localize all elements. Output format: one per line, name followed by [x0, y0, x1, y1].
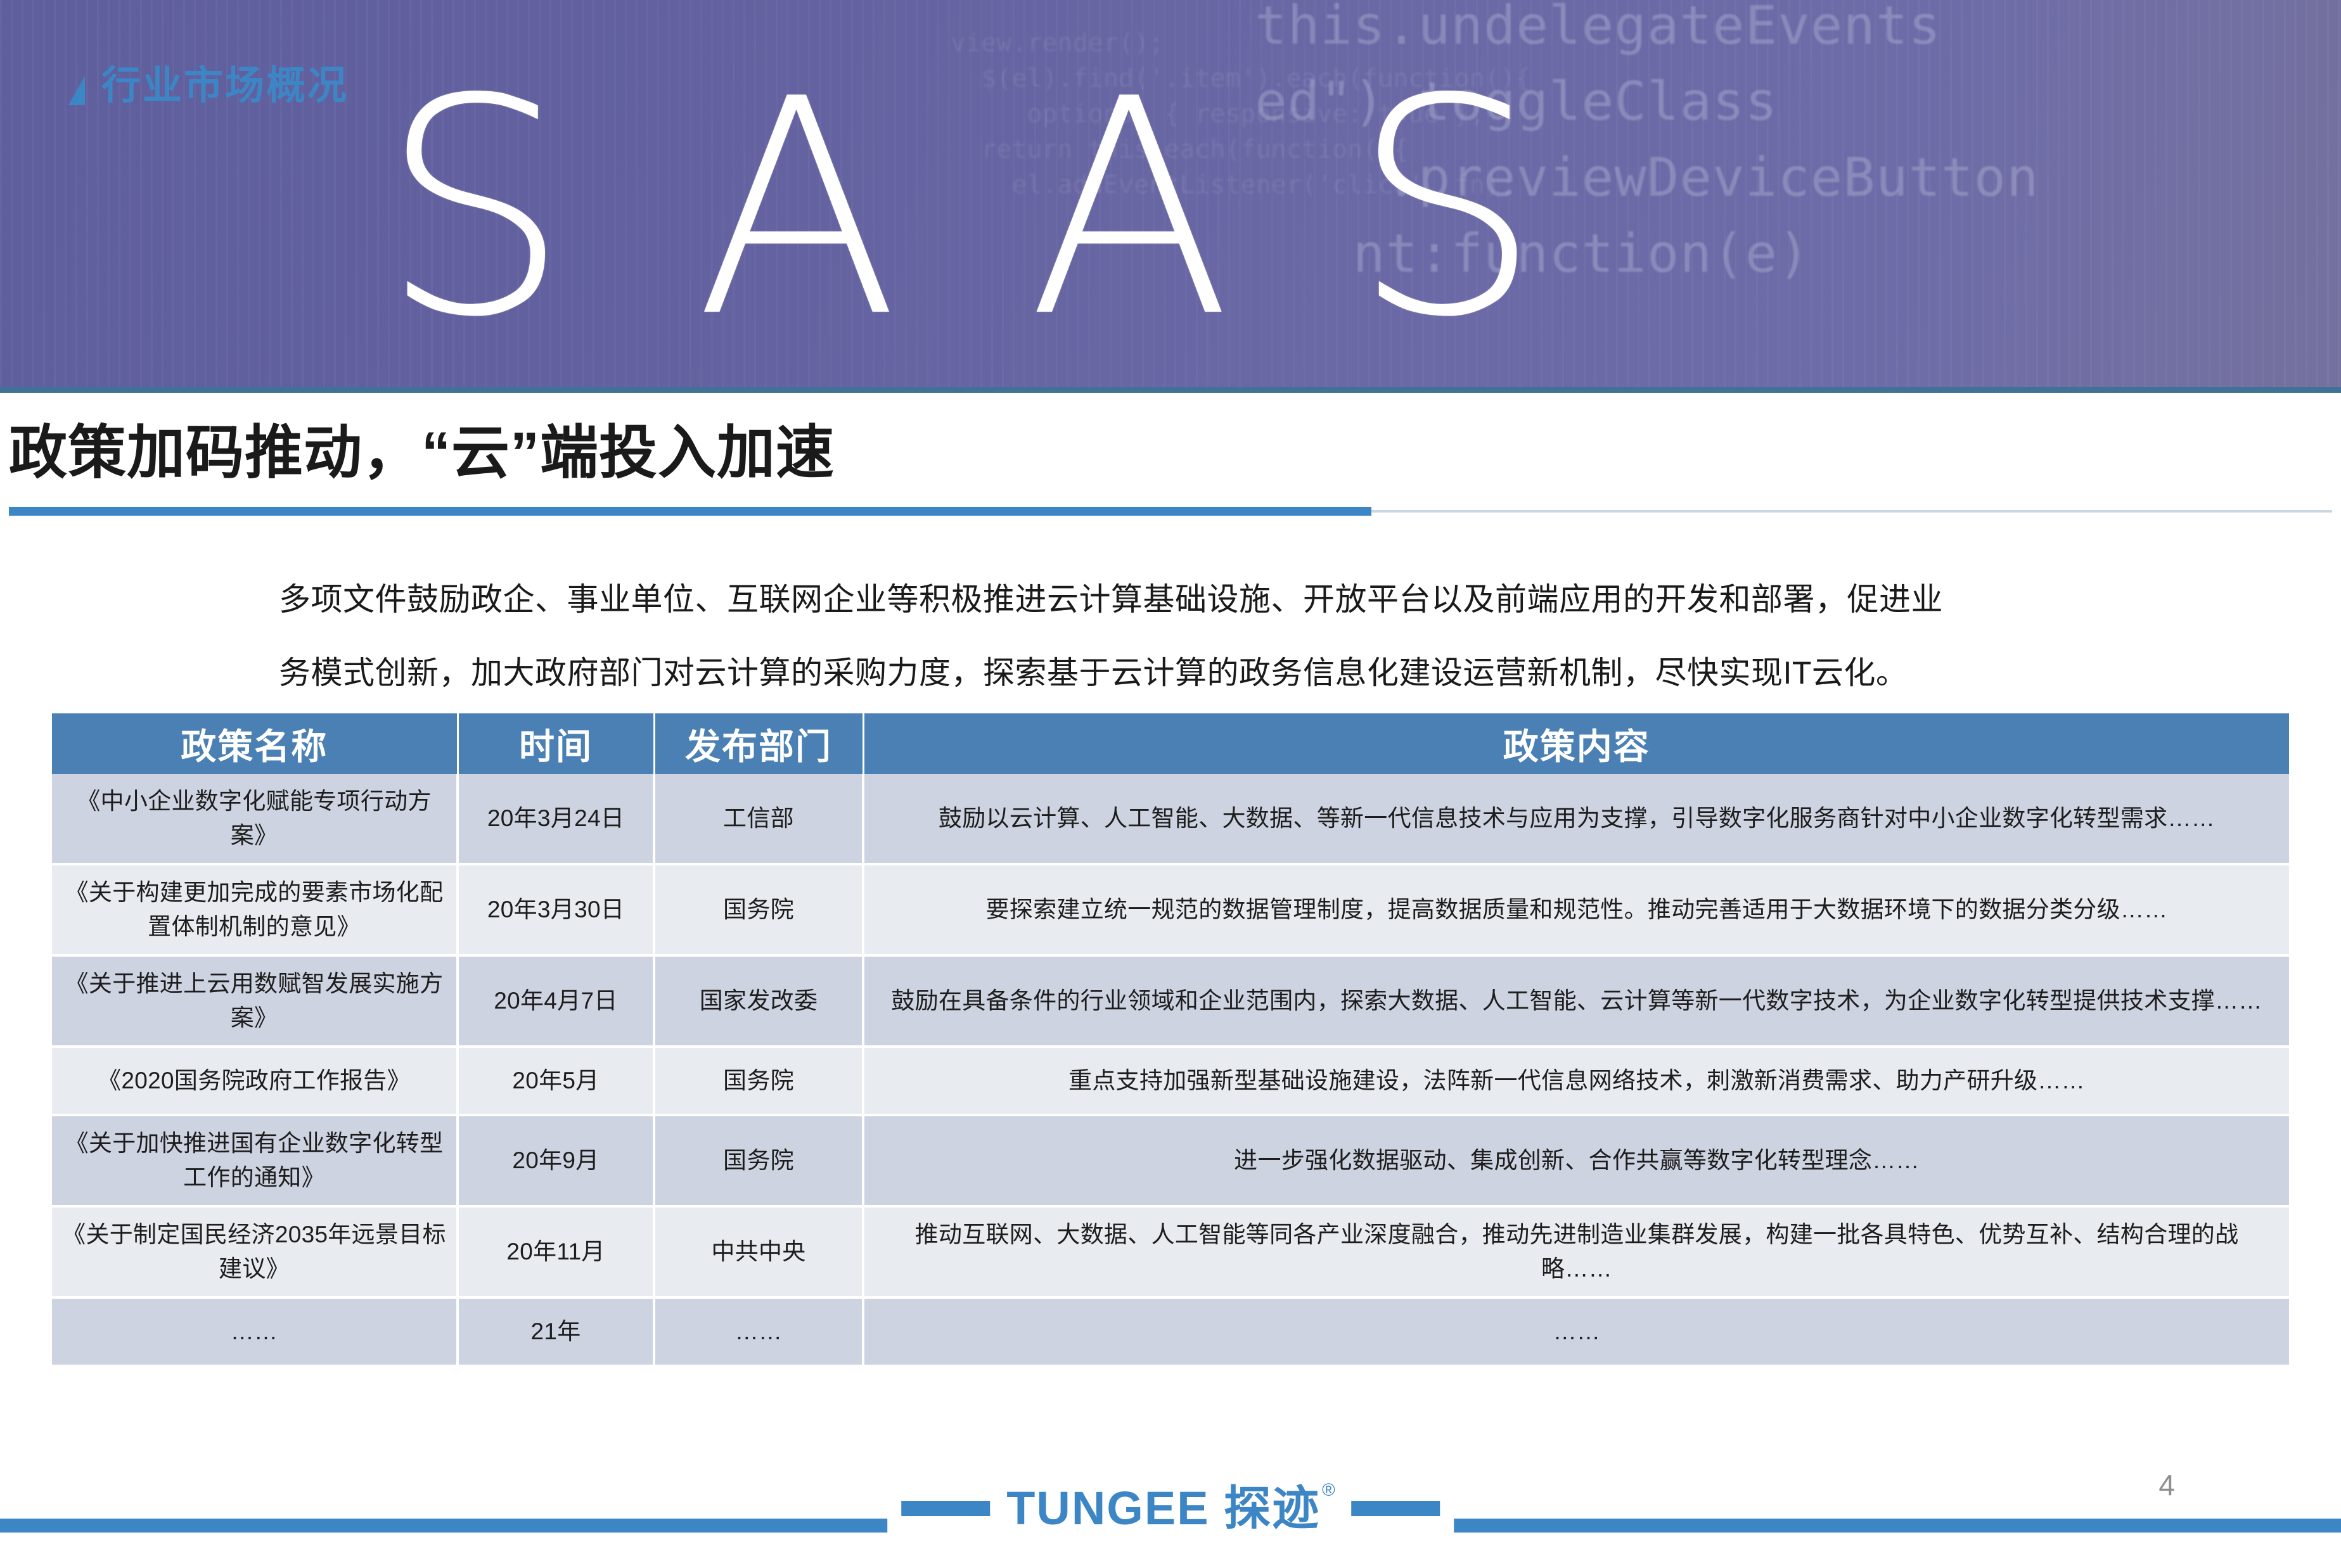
table-row: …… 21年 …… …… — [52, 1297, 2289, 1366]
column-header-time: 时间 — [458, 713, 654, 774]
cell-department: 国家发改委 — [654, 955, 863, 1047]
cell-department: 国务院 — [654, 1115, 863, 1206]
cell-policy-content: …… — [863, 1297, 2289, 1366]
table-row: 《关于制定国民经济2035年远景目标建议》 20年11月 中共中央 推动互联网、… — [52, 1206, 2289, 1297]
cell-time: 20年5月 — [458, 1047, 654, 1115]
cell-time: 20年3月24日 — [458, 774, 654, 864]
cell-time: 20年9月 — [458, 1115, 654, 1206]
policy-table-head: 政策名称 时间 发布部门 政策内容 — [52, 713, 2289, 774]
logo-wordmark: TUNGEE 探迹® — [990, 1485, 1351, 1532]
intro-line-2: 务模式创新，加大政府部门对云计算的采购力度，探索基于云计算的政务信息化建设运营新… — [279, 636, 2110, 710]
cell-policy-content: 鼓励在具备条件的行业领域和企业范围内，探索大数据、人工智能、云计算等新一代数字技… — [863, 955, 2289, 1047]
intro-line-1: 多项文件鼓励政企、事业单位、互联网企业等积极推进云计算基础设施、开放平台以及前端… — [279, 582, 1943, 617]
cell-policy-name: 《关于加快推进国有企业数字化转型工作的通知》 — [52, 1115, 458, 1206]
registered-trademark-icon: ® — [1322, 1481, 1337, 1499]
policy-table-body: 《中小企业数字化赋能专项行动方案》 20年3月24日 工信部 鼓励以云计算、人工… — [52, 774, 2289, 1366]
cell-department: 国务院 — [654, 1047, 863, 1115]
cell-policy-name: 《关于推进上云用数赋智发展实施方案》 — [52, 955, 458, 1047]
table-row: 《关于推进上云用数赋智发展实施方案》 20年4月7日 国家发改委 鼓励在具备条件… — [52, 955, 2289, 1047]
cell-policy-content: 进一步强化数据驱动、集成创新、合作共赢等数字化转型理念…… — [863, 1115, 2289, 1206]
triangle-marker-icon — [68, 76, 85, 105]
policy-table: 政策名称 时间 发布部门 政策内容 《中小企业数字化赋能专项行动方案》 20年3… — [52, 713, 2289, 1367]
cell-time: 21年 — [458, 1297, 654, 1366]
page-title: 政策加码推动，“云”端投入加速 — [9, 405, 835, 490]
cell-policy-content: 要探索建立统一规范的数据管理制度，提高数据质量和规范性。推动完善适用于大数据环境… — [863, 864, 2289, 955]
cell-policy-name: 《2020国务院政府工作报告》 — [52, 1047, 458, 1115]
section-eyebrow: 行业市场概况 — [68, 67, 349, 106]
column-header-policy-name: 政策名称 — [52, 713, 458, 774]
cell-policy-name: 《关于制定国民经济2035年远景目标建议》 — [52, 1206, 458, 1297]
cell-department: 国务院 — [654, 864, 863, 955]
cell-policy-content: 鼓励以云计算、人工智能、大数据、等新一代信息技术与应用为支撑，引导数字化服务商针… — [863, 774, 2289, 864]
brand-logo: TUNGEE 探迹® — [887, 1470, 1454, 1546]
table-row: 《关于构建更加完成的要素市场化配置体制机制的意见》 20年3月30日 国务院 要… — [52, 864, 2289, 955]
logo-wordmark-text: TUNGEE 探迹 — [1006, 1485, 1320, 1532]
column-header-policy-content: 政策内容 — [863, 713, 2289, 774]
title-underline-light — [1371, 510, 2332, 513]
table-row: 《2020国务院政府工作报告》 20年5月 国务院 重点支持加强新型基础设施建设… — [52, 1047, 2289, 1115]
cell-policy-content: 重点支持加强新型基础设施建设，法阵新一代信息网络技术，刺激新消费需求、助力产研升… — [863, 1047, 2289, 1115]
section-eyebrow-label: 行业市场概况 — [101, 67, 349, 106]
cell-time: 20年11月 — [458, 1206, 654, 1297]
cell-department: 工信部 — [654, 774, 863, 864]
table-header-row: 政策名称 时间 发布部门 政策内容 — [52, 713, 2289, 774]
title-underline — [9, 507, 1371, 516]
header-banner: view.render(); $(el).find('.item').each(… — [0, 0, 2341, 393]
cell-department: 中共中央 — [654, 1206, 863, 1297]
cell-policy-name: 《中小企业数字化赋能专项行动方案》 — [52, 774, 458, 864]
cell-time: 20年4月7日 — [458, 955, 654, 1047]
table-row: 《中小企业数字化赋能专项行动方案》 20年3月24日 工信部 鼓励以云计算、人工… — [52, 774, 2289, 864]
cell-time: 20年3月30日 — [458, 864, 654, 955]
slide: view.render(); $(el).find('.item').each(… — [0, 0, 2341, 1568]
page-number: 4 — [2158, 1468, 2175, 1502]
banner-bottom-rule — [0, 387, 2341, 393]
saas-watermark: SAAS — [380, 60, 1662, 358]
cell-policy-content: 推动互联网、大数据、人工智能等同各产业深度融合，推动先进制造业集群发展，构建一批… — [863, 1206, 2289, 1297]
logo-dash-left-icon — [901, 1501, 990, 1516]
cell-department: …… — [654, 1297, 863, 1366]
cell-policy-name: 《关于构建更加完成的要素市场化配置体制机制的意见》 — [52, 864, 458, 955]
policy-table-wrapper: 政策名称 时间 发布部门 政策内容 《中小企业数字化赋能专项行动方案》 20年3… — [52, 713, 2289, 1367]
intro-paragraph: 多项文件鼓励政企、事业单位、互联网企业等积极推进云计算基础设施、开放平台以及前端… — [279, 563, 2110, 710]
cell-policy-name: …… — [52, 1297, 458, 1366]
column-header-department: 发布部门 — [654, 713, 863, 774]
table-row: 《关于加快推进国有企业数字化转型工作的通知》 20年9月 国务院 进一步强化数据… — [52, 1115, 2289, 1206]
logo-dash-right-icon — [1351, 1501, 1440, 1516]
